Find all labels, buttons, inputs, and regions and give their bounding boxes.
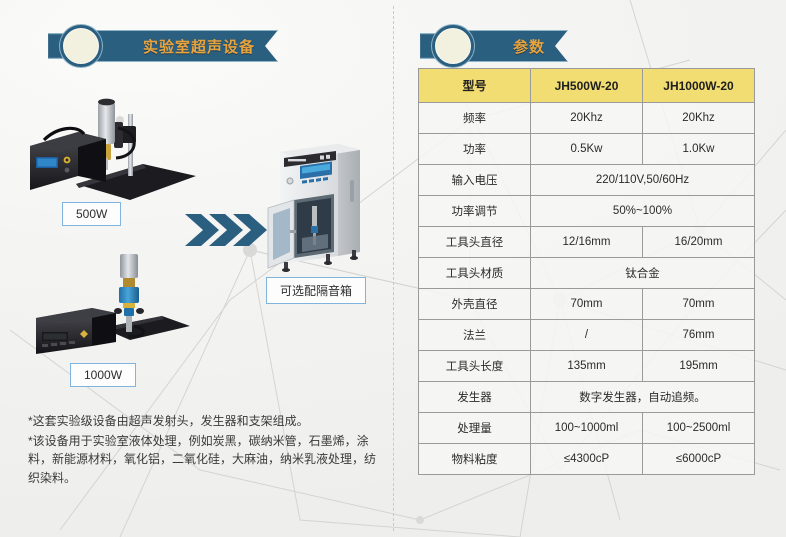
table-cell-value-jh1000w: 70mm [643, 289, 755, 320]
table-cell-value-merged: 钛合金 [531, 258, 755, 289]
table-cell-value-jh1000w: 76mm [643, 320, 755, 351]
panel-divider [393, 6, 394, 531]
table-row: 功率调节50%~100% [419, 196, 755, 227]
table-cell-label: 发生器 [419, 382, 531, 413]
table-cell-value-jh500w: 12/16mm [531, 227, 643, 258]
table-cell-value-jh1000w: 1.0Kw [643, 134, 755, 165]
table-cell-label: 处理量 [419, 413, 531, 444]
triple-chevron-right-icon [185, 212, 283, 248]
table-cell-value-jh1000w: 100~2500ml [643, 413, 755, 444]
table-cell-value-jh1000w: 20Khz [643, 103, 755, 134]
table-cell-label: 物料粘度 [419, 444, 531, 475]
table-row: 法兰/76mm [419, 320, 755, 351]
caption-500w: 500W [62, 202, 121, 226]
table-cell-label: 外壳直径 [419, 289, 531, 320]
table-cell-value-jh500w: 0.5Kw [531, 134, 643, 165]
table-cell-value-jh1000w: 16/20mm [643, 227, 755, 258]
table-cell-value-jh500w: 135mm [531, 351, 643, 382]
parameter-table: 型号 JH500W-20 JH1000W-20 频率20Khz20Khz功率0.… [418, 68, 755, 475]
ribbon-bar: 实验室超声设备 [78, 30, 278, 62]
caption-1000w: 1000W [70, 363, 136, 387]
table-cell-value-merged: 数字发生器，自动追频。 [531, 382, 755, 413]
table-cell-label: 工具头直径 [419, 227, 531, 258]
ultrasonic-processor-1000w-icon [30, 254, 195, 362]
table-row: 发生器数字发生器，自动追频。 [419, 382, 755, 413]
table-header-row: 型号 JH500W-20 JH1000W-20 [419, 69, 755, 103]
table-header-jh1000w: JH1000W-20 [643, 69, 755, 103]
footnote-block: *这套实验级设备由超声发射头，发生器和支架组成。 *该设备用于实验室液体处理，例… [28, 412, 380, 488]
caption-soundproof-cabinet: 可选配隔音箱 [266, 277, 366, 304]
soundproof-cabinet-icon [264, 134, 376, 272]
table-cell-label: 工具头材质 [419, 258, 531, 289]
table-row: 工具头长度135mm195mm [419, 351, 755, 382]
table-row: 输入电压220/110V,50/60Hz [419, 165, 755, 196]
left-section-banner: 实验室超声设备 [48, 24, 288, 68]
footnote-line-1: *这套实验级设备由超声发射头，发生器和支架组成。 [28, 412, 380, 431]
table-header-jh500w: JH500W-20 [531, 69, 643, 103]
table-row: 工具头材质钛合金 [419, 258, 755, 289]
table-cell-label: 工具头长度 [419, 351, 531, 382]
table-cell-label: 法兰 [419, 320, 531, 351]
table-row: 物料粘度≤4300cP≤6000cP [419, 444, 755, 475]
table-cell-value-jh1000w: 195mm [643, 351, 755, 382]
table-row: 工具头直径12/16mm16/20mm [419, 227, 755, 258]
footnote-line-2: *该设备用于实验室液体处理，例如炭黑，碳纳米管，石墨烯，涂料，新能源材料，氧化铝… [28, 432, 380, 488]
ultrasonic-processor-500w-icon [18, 92, 203, 207]
circle-medallion-icon [432, 25, 474, 67]
table-row: 处理量100~1000ml100~2500ml [419, 413, 755, 444]
table-cell-label: 功率调节 [419, 196, 531, 227]
table-cell-value-merged: 50%~100% [531, 196, 755, 227]
circle-medallion-icon [60, 25, 102, 67]
table-cell-label: 功率 [419, 134, 531, 165]
table-cell-label: 输入电压 [419, 165, 531, 196]
table-cell-value-jh500w: 20Khz [531, 103, 643, 134]
table-header-model: 型号 [419, 69, 531, 103]
right-section-banner: 参数 [420, 24, 580, 68]
left-section-title: 实验室超声设备 [143, 36, 255, 57]
table-cell-value-jh500w: 100~1000ml [531, 413, 643, 444]
table-row: 外壳直径70mm70mm [419, 289, 755, 320]
table-cell-value-merged: 220/110V,50/60Hz [531, 165, 755, 196]
table-cell-value-jh500w: 70mm [531, 289, 643, 320]
table-row: 频率20Khz20Khz [419, 103, 755, 134]
right-section-title: 参数 [513, 36, 545, 57]
table-cell-value-jh500w: ≤4300cP [531, 444, 643, 475]
table-row: 功率0.5Kw1.0Kw [419, 134, 755, 165]
table-cell-label: 频率 [419, 103, 531, 134]
table-cell-value-jh500w: / [531, 320, 643, 351]
table-cell-value-jh1000w: ≤6000cP [643, 444, 755, 475]
